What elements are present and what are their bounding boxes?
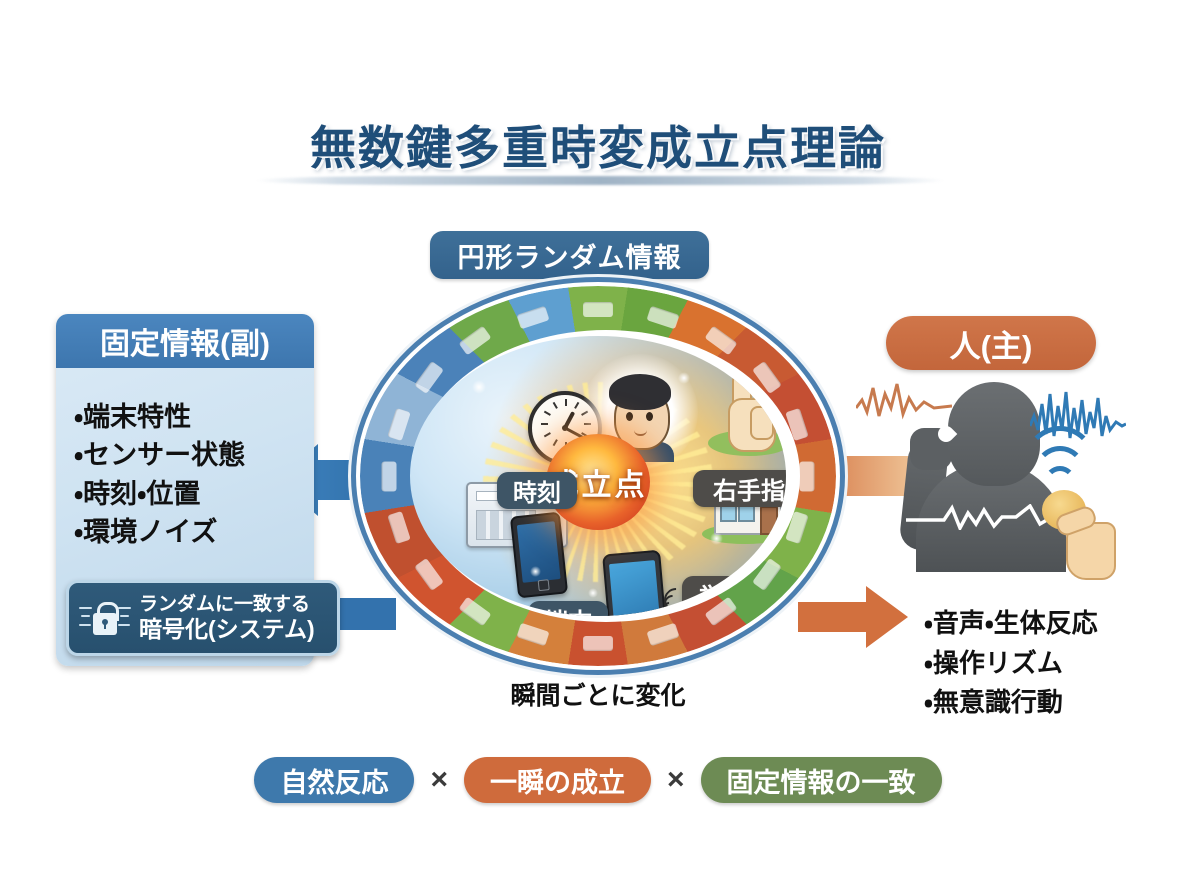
fixed-information-header: 固定情報(副) — [56, 314, 314, 368]
circle-caption: 瞬間ごとに変化 — [352, 676, 844, 712]
sparkle-decoration — [588, 588, 598, 598]
wheel-tile — [583, 636, 613, 651]
sparkle-decoration — [472, 380, 486, 394]
formula-separator: × — [430, 763, 448, 797]
fixed-information-bullets: ・端末特性 ・センサー状態 ・時刻・位置 ・環境ノイズ — [56, 384, 314, 551]
encryption-system-box: ランダムに一致する 暗号化(システム) — [66, 580, 340, 656]
list-item: ・センサー状態 — [74, 436, 314, 474]
list-item: ・無意識行動 — [924, 683, 1184, 723]
formula-term-natural-reaction: 自然反応 — [254, 757, 414, 803]
list-item: ・操作リズム — [924, 644, 1184, 684]
wheel-inner-disc: 成立点 時刻 右手指 端末 挙動確認 — [410, 336, 786, 616]
wheel-tile — [382, 461, 397, 491]
padlock-circuit-icon — [79, 595, 131, 641]
sparkle-decoration — [678, 372, 690, 384]
person-voice-biometric-icon — [880, 378, 1120, 578]
orange-waveform-icon — [856, 378, 952, 426]
person-header-pill: 人(主) — [886, 316, 1096, 370]
list-item: ・音声・生体反応 — [924, 604, 1184, 644]
wheel-pill-time: 時刻 — [497, 472, 577, 509]
touching-hand-icon — [1056, 504, 1118, 578]
formula-separator: × — [667, 763, 685, 797]
wheel-tile — [583, 302, 613, 317]
wheel-pill-behavior: 挙動確認 — [682, 576, 786, 613]
sparkle-decoration — [710, 532, 723, 545]
tablet-wifi-icon — [602, 550, 668, 616]
circular-random-information-wheel: 成立点 時刻 右手指 端末 挙動確認 — [352, 286, 844, 676]
wheel-tile — [800, 461, 815, 491]
title-underline-decoration — [255, 176, 945, 185]
list-item: ・環境ノイズ — [74, 513, 314, 551]
smartphone-icon — [510, 512, 568, 599]
pointing-finger-icon — [710, 372, 784, 466]
formula-term-instant-match: 一瞬の成立 — [464, 757, 651, 803]
page-title: 無数鍵多重時変成立点理論 — [0, 112, 1196, 178]
encryption-box-line1: ランダムに一致する — [139, 594, 315, 616]
list-item: ・時刻・位置 — [74, 475, 314, 513]
sparkle-decoration — [530, 566, 541, 577]
list-item: ・端末特性 — [74, 398, 314, 436]
formula-row: 自然反応 × 一瞬の成立 × 固定情報の一致 — [0, 757, 1196, 803]
formula-term-fixed-info-match: 固定情報の一致 — [701, 757, 942, 803]
wheel-pill-finger: 右手指 — [693, 470, 786, 507]
wheel-pill-terminal: 端末 — [528, 601, 608, 616]
circle-top-label: 円形ランダム情報 — [430, 231, 709, 279]
person-bullets: ・音声・生体反応 ・操作リズム ・無意識行動 — [884, 604, 1184, 723]
slide-canvas: 無数鍵多重時変成立点理論 円形ランダム情報 — [0, 0, 1196, 890]
encryption-box-line2: 暗号化(システム) — [139, 616, 315, 643]
